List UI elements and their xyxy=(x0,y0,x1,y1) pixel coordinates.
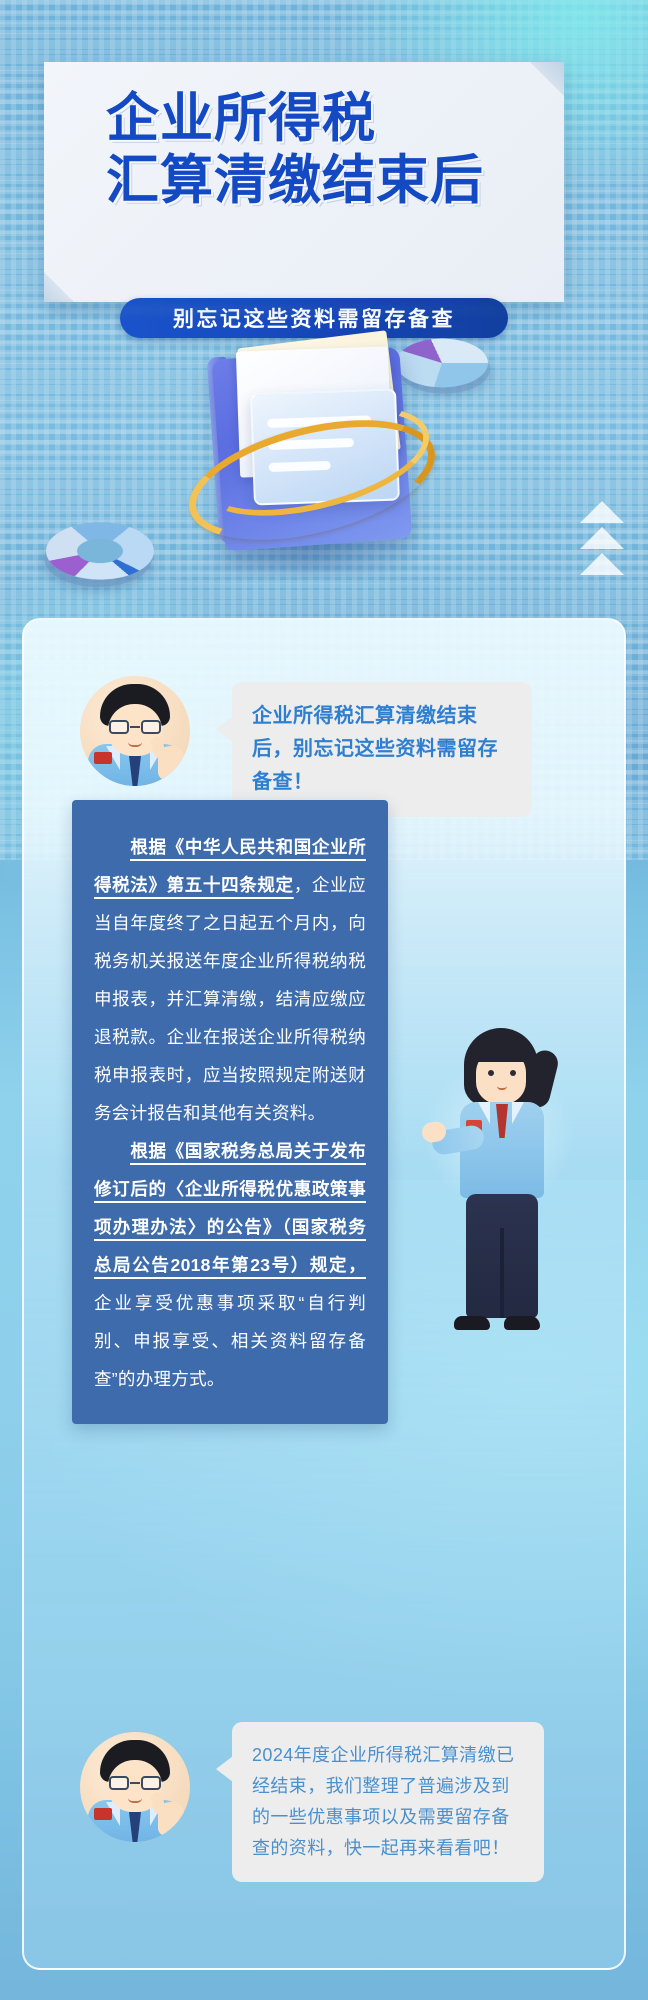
title-line-2: 汇算清缴结束后 xyxy=(106,150,526,212)
content-panel: 企业所得税汇算清缴结束后，别忘记这些资料需留存备查！ 根据《中华人民共和国企业所… xyxy=(22,618,626,1970)
title-line-1: 企业所得税 xyxy=(106,88,526,150)
thumbs-up-icon xyxy=(158,1802,184,1836)
infographic-page: 企业所得税 汇算清缴结束后 别忘记这些资料需留存备查 xyxy=(0,0,648,2000)
policy-text-card: 根据《中华人民共和国企业所得税法》第五十四条规定，企业应当自年度终了之日起五个月… xyxy=(72,800,388,1424)
male-tax-officer-avatar xyxy=(80,676,190,786)
hero-illustration xyxy=(0,305,648,615)
page-fold-bottom-left-icon xyxy=(44,272,74,302)
policy-paragraph-1: 根据《中华人民共和国企业所得税法》第五十四条规定，企业应当自年度终了之日起五个月… xyxy=(94,828,366,1132)
glasses-icon xyxy=(108,720,162,734)
female-tax-officer-illustration xyxy=(418,1024,582,1344)
page-fold-top-right-icon xyxy=(530,62,564,96)
policy-p2-body: 企业享受优惠事项采取“自行判别、申报享受、相关资料留存备查”的办理方式。 xyxy=(94,1293,366,1389)
speech-bubble-bottom: 2024年度企业所得税汇算清缴已经结束，我们整理了普遍涉及到的一些优惠事项以及需… xyxy=(232,1722,544,1882)
policy-p1-body: ，企业应当自年度终了之日起五个月内，向税务机关报送年度企业所得税纳税申报表，并汇… xyxy=(94,875,366,1123)
header-card: 企业所得税 汇算清缴结束后 别忘记这些资料需留存备查 xyxy=(44,62,564,302)
thumbs-up-icon xyxy=(158,746,184,780)
speech-bubble-bottom-text: 2024年度企业所得税汇算清缴已经结束，我们整理了普遍涉及到的一些优惠事项以及需… xyxy=(252,1740,524,1864)
policy-p2-emphasis: 根据《国家税务总局关于发布修订后的〈企业所得税优惠政策事项办理办法〉的公告》（国… xyxy=(94,1141,366,1275)
pie-chart-icon xyxy=(389,335,496,391)
speech-bubble-top-text: 企业所得税汇算清缴结束后，别忘记这些资料需留存备查！ xyxy=(252,700,512,799)
page-title: 企业所得税 汇算清缴结束后 xyxy=(106,88,526,212)
donut-chart-icon xyxy=(39,519,161,584)
male-tax-officer-avatar xyxy=(80,1732,190,1842)
speech-bubble-top: 企业所得税汇算清缴结束后，别忘记这些资料需留存备查！ xyxy=(232,682,532,817)
chevron-up-stack-icon xyxy=(580,501,624,589)
glasses-icon xyxy=(108,1776,162,1790)
policy-paragraph-2: 根据《国家税务总局关于发布修订后的〈企业所得税优惠政策事项办理办法〉的公告》（国… xyxy=(94,1132,366,1398)
